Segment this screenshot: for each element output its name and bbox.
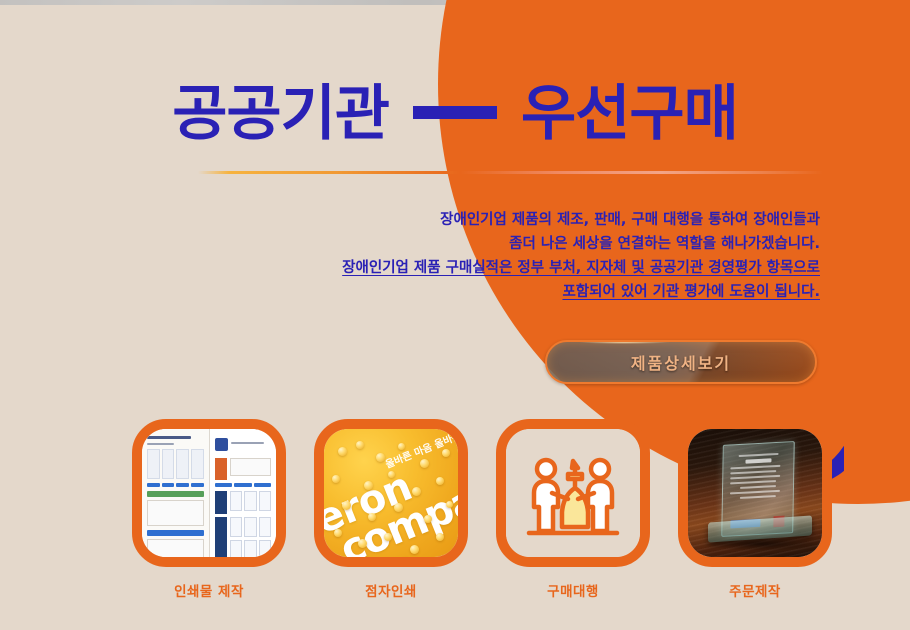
category-thumbnail[interactable]	[678, 419, 832, 567]
document-spread-icon	[142, 429, 276, 557]
description-line-1: 장애인기업 제품의 제조, 판매, 구매 대행을 통하여 장애인들과	[260, 208, 820, 232]
headline-right-word: 우선구매	[521, 84, 738, 144]
category-card-label: 인쇄물 제작	[174, 580, 244, 600]
category-card-row: 인쇄물 제작 올바른 마음 올바른 생 eron company	[132, 419, 832, 619]
category-thumbnail[interactable]: 올바른 마음 올바른 생 eron company	[314, 419, 468, 567]
category-card-printing[interactable]: 인쇄물 제작	[132, 419, 286, 619]
glass-trophy-icon	[688, 429, 822, 557]
category-thumbnail[interactable]	[496, 419, 650, 567]
product-detail-button[interactable]: 제품상세보기	[545, 340, 817, 384]
description-line-4: 포함되어 있어 기관 평가에 도움이 됩니다.	[260, 280, 820, 304]
headline-left-word: 공공기관	[172, 84, 389, 144]
category-card-label: 주문제작	[729, 580, 781, 600]
description-block: 장애인기업 제품의 제조, 판매, 구매 대행을 통하여 장애인들과 좀더 나은…	[260, 208, 820, 304]
description-line-3: 장애인기업 제품 구매실적은 정부 부처, 지자체 및 공공기관 경영평가 항목…	[260, 256, 820, 280]
title-underline-divider	[198, 171, 823, 174]
three-people-icon	[506, 429, 640, 557]
headline-dash-icon	[413, 106, 497, 119]
category-card-label: 구매대행	[547, 580, 599, 600]
description-line-2: 좀더 나은 세상을 연결하는 역할을 해나가겠습니다.	[260, 232, 820, 256]
promo-banner: 공공기관 우선구매 장애인기업 제품의 제조, 판매, 구매 대행을 통하여 장…	[0, 0, 910, 630]
braille-dots-icon: 올바른 마음 올바른 생 eron company	[324, 429, 458, 557]
category-card-purchase-agency[interactable]: 구매대행	[496, 419, 650, 619]
product-detail-button-label: 제품상세보기	[631, 350, 731, 374]
category-card-custom-order[interactable]: 주문제작	[678, 419, 832, 619]
category-card-braille[interactable]: 올바른 마음 올바른 생 eron company	[314, 419, 468, 619]
category-card-label: 점자인쇄	[365, 580, 417, 600]
category-thumbnail[interactable]	[132, 419, 286, 567]
page-title: 공공기관 우선구매	[0, 84, 910, 144]
